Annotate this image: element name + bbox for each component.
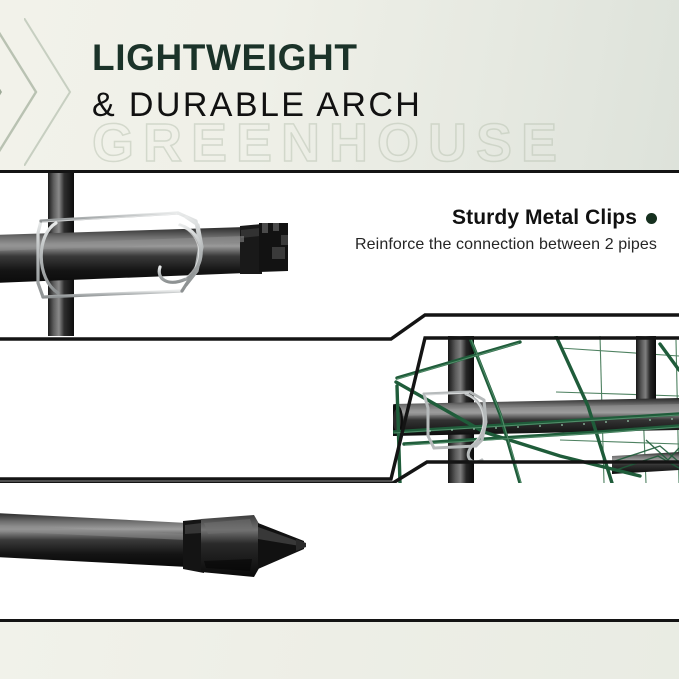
title-line-primary: LIGHTWEIGHT [92,36,422,80]
callout-heading-metal-clips: Sturdy Metal Clips [355,205,657,231]
chevron-decoration [0,18,106,166]
chevron-icon-outline-2 [24,18,98,166]
callout-metal-clips: Sturdy Metal Clips Reinforce the connect… [355,205,657,256]
product-infographic: GREENHOUSE LIGHTWEIGHT & DURABLE ARCH [0,0,679,679]
callout-heading-text: Sturdy Metal Clips [452,205,637,231]
photo-spiked-legs [0,483,679,622]
features-content: Sturdy Metal Clips Reinforce the connect… [0,173,679,622]
feature-panel-trellis-netting: Durable Trellis Netting Last for multipl… [0,336,679,483]
header-banner: GREENHOUSE LIGHTWEIGHT & DURABLE ARCH [0,0,679,173]
feature-panel-spiked-legs: Solid Spiked Legs Easily sink into soil … [0,483,679,622]
feature-panel-metal-clips: Sturdy Metal Clips Reinforce the connect… [0,173,679,339]
page-title: LIGHTWEIGHT & DURABLE ARCH [92,36,422,126]
photo-trellis-netting [0,336,679,483]
callout-description-metal-clips: Reinforce the connection between 2 pipes [355,234,657,256]
footer-banner [0,619,679,679]
title-line-secondary: & DURABLE ARCH [92,84,422,126]
bullet-dot-icon [646,213,657,224]
